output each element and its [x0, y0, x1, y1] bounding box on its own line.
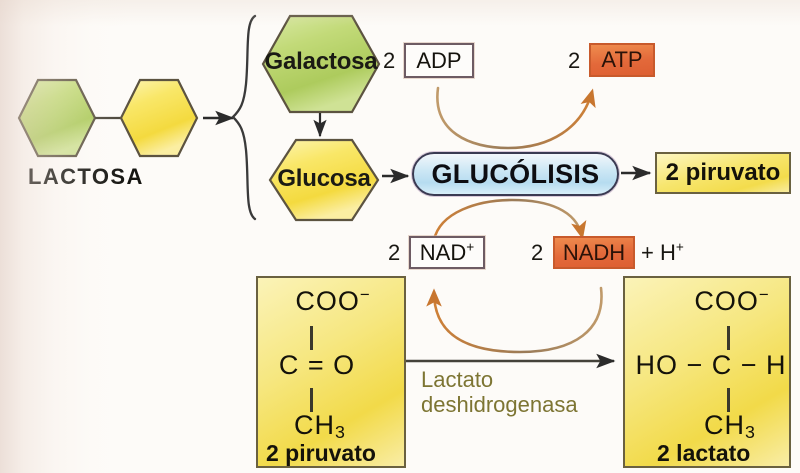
lactate-bond-lower [727, 388, 730, 412]
pyruvate-bond-lower [310, 388, 313, 412]
lactate-formula-middle: HO − C − H [629, 350, 793, 381]
enzyme-name-line2: deshidrogenasa [421, 393, 578, 418]
atp-coefficient: 2 [568, 48, 580, 74]
proton-term: + H+ [641, 240, 684, 266]
glycolysis-node: GLUCÓLISIS [412, 152, 619, 196]
nadh-coefficient: 2 [531, 240, 543, 266]
glucose-unit-hexagon [121, 80, 197, 156]
adp-coefficient: 2 [383, 48, 395, 74]
pyruvate-product-label: 2 piruvato [666, 159, 781, 187]
pyruvate-bond-upper [310, 326, 313, 350]
adp-box: ADP [404, 43, 474, 78]
nad-label: NAD+ [420, 240, 474, 266]
pyruvate-formula-bottom: CH3 [258, 410, 382, 441]
diagram-canvas: Galactosa Glucosa LACTOSA 2 ADP 2 ATP GL… [0, 0, 800, 473]
enzyme-label: Lactato deshidrogenasa [421, 368, 578, 417]
lactate-formula-bottom: CH3 [671, 410, 789, 441]
adp-to-atp-arc [437, 88, 592, 148]
products-brace [233, 16, 255, 219]
glycolysis-label: GLUCÓLISIS [431, 159, 599, 190]
galactose-unit-hexagon [19, 80, 95, 156]
pyruvate-formula-middle: C = O [258, 350, 376, 381]
nadh-label: NADH [563, 240, 625, 266]
lactate-formula-top: COO− [671, 286, 793, 317]
pyruvate-structure-box: COO− C = O CH3 2 piruvato [256, 276, 406, 468]
galactosa-label: Galactosa [263, 48, 379, 76]
lactose-hexagon-pair [19, 80, 197, 156]
glucosa-label: Glucosa [270, 165, 378, 193]
enzyme-name-line1: Lactato [421, 368, 578, 393]
atp-label: ATP [601, 47, 642, 73]
pyruvate-structure-caption: 2 piruvato [266, 440, 376, 467]
lactate-structure-box: COO− HO − C − H CH3 2 lactato [623, 276, 791, 468]
pyruvate-formula-top: COO− [258, 286, 408, 317]
adp-label: ADP [416, 48, 461, 74]
atp-box: ATP [589, 43, 655, 77]
nad-to-nadh-arc [434, 200, 582, 240]
nadh-to-nad-return-arc [434, 288, 602, 352]
nad-box: NAD+ [409, 236, 485, 269]
lactosa-label: LACTOSA [28, 164, 144, 190]
nadh-box: NADH [553, 236, 635, 269]
lactate-structure-caption: 2 lactato [657, 440, 750, 467]
pyruvate-product-box: 2 piruvato [655, 152, 791, 194]
lactate-bond-upper [727, 326, 730, 350]
nad-coefficient: 2 [388, 240, 400, 266]
